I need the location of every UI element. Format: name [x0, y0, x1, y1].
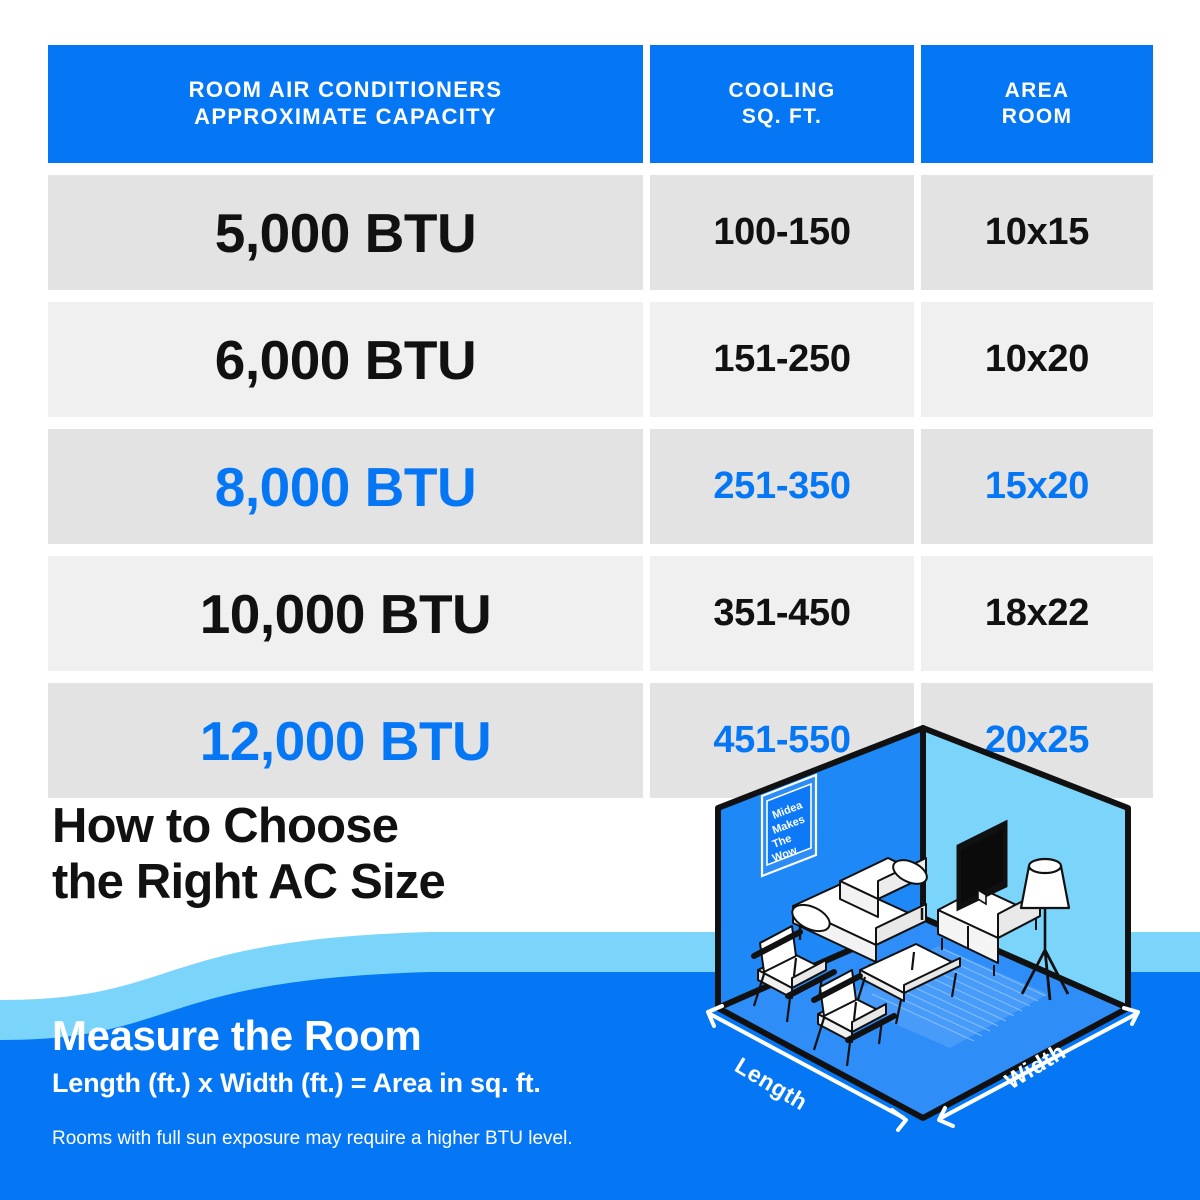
- measure-title: Measure the Room: [52, 1012, 541, 1060]
- header-cooling-line1: COOLING: [728, 78, 835, 104]
- header-capacity-line1: ROOM AIR CONDITIONERS: [189, 77, 503, 104]
- cell-area: 10x15: [921, 175, 1153, 290]
- header-cell-capacity: ROOM AIR CONDITIONERS APPROXIMATE CAPACI…: [48, 45, 643, 163]
- header-area-line1: AREA: [1002, 78, 1073, 104]
- header-capacity-line2: APPROXIMATE CAPACITY: [189, 104, 503, 131]
- table-header-row: ROOM AIR CONDITIONERS APPROXIMATE CAPACI…: [48, 45, 1153, 163]
- capacity-value: 6,000 BTU: [215, 328, 476, 392]
- cooling-value: 351-450: [713, 592, 850, 635]
- footnote-text: Rooms with full sun exposure may require…: [52, 1128, 573, 1150]
- area-value: 10x20: [985, 338, 1089, 381]
- cooling-value: 100-150: [713, 211, 850, 254]
- cell-cooling: 100-150: [650, 175, 914, 290]
- capacity-value: 12,000 BTU: [200, 709, 492, 773]
- cell-capacity: 6,000 BTU: [48, 302, 643, 417]
- table-row: 5,000 BTU 100-150 10x15: [48, 175, 1153, 290]
- capacity-value: 10,000 BTU: [200, 582, 492, 646]
- measure-the-room-block: Measure the Room Length (ft.) x Width (f…: [52, 1012, 541, 1099]
- cell-area: 15x20: [921, 429, 1153, 544]
- area-value: 18x22: [985, 592, 1089, 635]
- header-cell-area: AREA ROOM: [921, 45, 1153, 163]
- area-value: 10x15: [985, 211, 1089, 254]
- header-cell-cooling: COOLING SQ. FT.: [650, 45, 914, 163]
- table-row: 10,000 BTU 351-450 18x22: [48, 556, 1153, 671]
- header-cooling-line2: SQ. FT.: [728, 104, 835, 130]
- cell-area: 10x20: [921, 302, 1153, 417]
- cooling-value: 251-350: [713, 465, 850, 508]
- measure-formula: Length (ft.) x Width (ft.) = Area in sq.…: [52, 1068, 541, 1099]
- table-row-highlighted: 8,000 BTU 251-350 15x20: [48, 429, 1153, 544]
- cooling-value: 151-250: [713, 338, 850, 381]
- btu-sizing-table: ROOM AIR CONDITIONERS APPROXIMATE CAPACI…: [48, 45, 1153, 810]
- page-title: How to Choose the Right AC Size: [52, 798, 445, 911]
- headline-line1: How to Choose: [52, 798, 445, 854]
- cell-cooling: 351-450: [650, 556, 914, 671]
- infographic-root: ROOM AIR CONDITIONERS APPROXIMATE CAPACI…: [0, 0, 1200, 1200]
- capacity-value: 8,000 BTU: [215, 455, 476, 519]
- cell-capacity: 10,000 BTU: [48, 556, 643, 671]
- cell-capacity: 5,000 BTU: [48, 175, 643, 290]
- cell-capacity: 8,000 BTU: [48, 429, 643, 544]
- cell-capacity: 12,000 BTU: [48, 683, 643, 798]
- cell-cooling: 251-350: [650, 429, 914, 544]
- area-value: 15x20: [985, 465, 1089, 508]
- table-row: 6,000 BTU 151-250 10x20: [48, 302, 1153, 417]
- headline-line2: the Right AC Size: [52, 854, 445, 910]
- cell-cooling: 151-250: [650, 302, 914, 417]
- capacity-value: 5,000 BTU: [215, 201, 476, 265]
- cell-area: 18x22: [921, 556, 1153, 671]
- header-area-line2: ROOM: [1002, 104, 1073, 130]
